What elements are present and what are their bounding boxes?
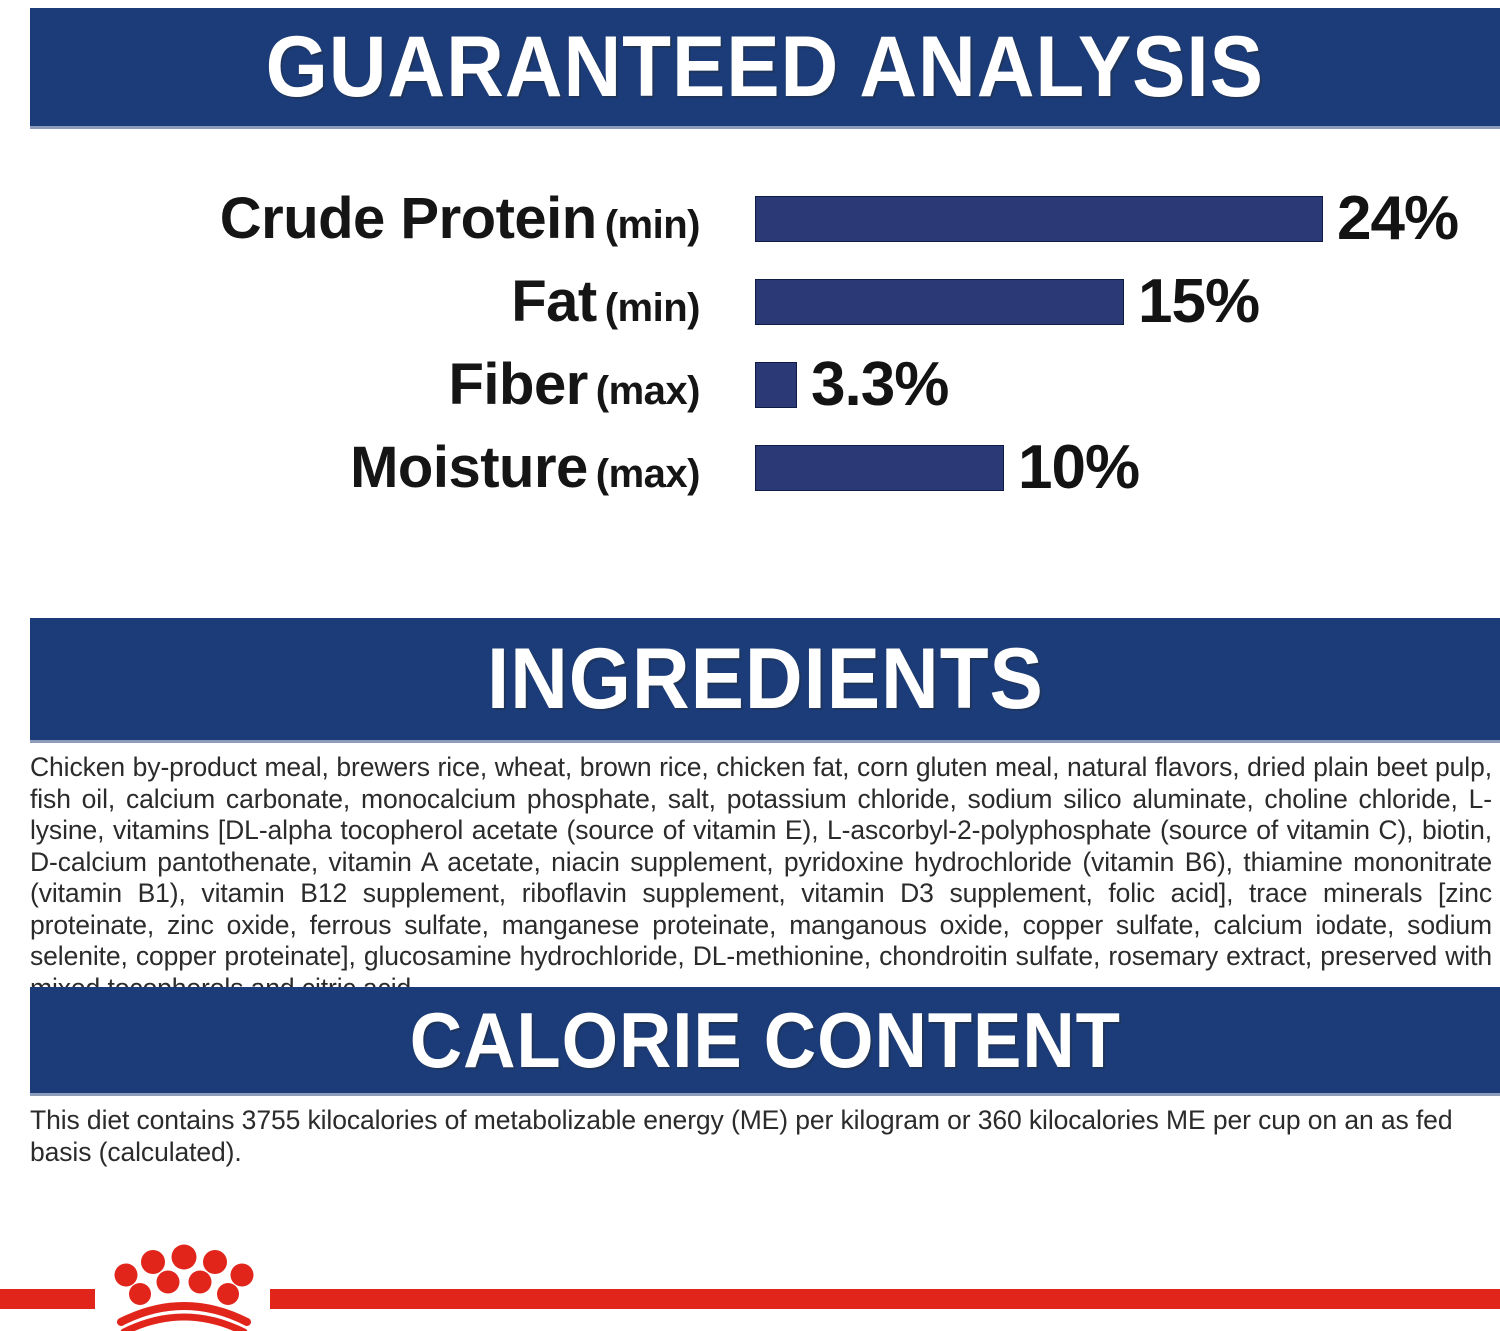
- guaranteed-analysis-title: GUARANTEED ANALYSIS: [266, 18, 1264, 117]
- ingredients-header: INGREDIENTS: [30, 618, 1500, 743]
- bar-crude-protein: [755, 196, 1323, 242]
- bar-fiber: [755, 362, 797, 408]
- nutrient-qualifier: (min): [605, 203, 700, 247]
- nutrient-row-fat: Fat(min) 15%: [0, 268, 1500, 336]
- bar-moisture: [755, 445, 1004, 491]
- bar-zone-fat: 15%: [700, 268, 1500, 336]
- nutrient-name: Fiber: [448, 352, 587, 417]
- calorie-content-title: CALORIE CONTENT: [409, 995, 1120, 1086]
- guaranteed-analysis-header: GUARANTEED ANALYSIS: [30, 8, 1500, 129]
- nutrient-label-crude-protein: Crude Protein(min): [0, 190, 700, 248]
- nutrient-row-moisture: Moisture(max) 10%: [0, 434, 1500, 502]
- nutrient-qualifier: (max): [596, 369, 700, 413]
- nutrient-name: Moisture: [350, 435, 588, 500]
- bar-zone-moisture: 10%: [700, 434, 1500, 502]
- nutrient-row-crude-protein: Crude Protein(min) 24%: [0, 185, 1500, 253]
- nutrient-row-fiber: Fiber(max) 3.3%: [0, 351, 1500, 419]
- bar-zone-fiber: 3.3%: [700, 351, 1500, 419]
- nutrient-label-fiber: Fiber(max): [0, 356, 700, 414]
- bar-value-fat: 15%: [1138, 271, 1259, 333]
- nutrient-name: Crude Protein: [220, 186, 597, 251]
- footer-rule-left: [0, 1289, 95, 1309]
- guaranteed-analysis-chart: Crude Protein(min) 24% Fat(min) 15% Fibe…: [0, 185, 1500, 515]
- nutrient-qualifier: (min): [605, 286, 700, 330]
- bar-zone-crude-protein: 24%: [700, 185, 1500, 253]
- nutrient-label-fat: Fat(min): [0, 273, 700, 331]
- ingredients-title: INGREDIENTS: [487, 630, 1044, 729]
- footer-logo-strip: [0, 1238, 1500, 1331]
- nutrient-qualifier: (max): [596, 452, 700, 496]
- calorie-content-text: This diet contains 3755 kilocalories of …: [30, 1105, 1492, 1168]
- bar-fat: [755, 279, 1124, 325]
- nutrient-name: Fat: [511, 269, 597, 334]
- bar-value-moisture: 10%: [1018, 437, 1139, 499]
- royal-canin-crown-icon: [103, 1244, 265, 1331]
- calorie-content-header: CALORIE CONTENT: [30, 987, 1500, 1096]
- bar-value-crude-protein: 24%: [1337, 188, 1458, 250]
- bar-value-fiber: 3.3%: [811, 354, 948, 416]
- footer-rule-right: [270, 1289, 1500, 1309]
- ingredients-text: Chicken by-product meal, brewers rice, w…: [30, 752, 1492, 1004]
- nutrient-label-moisture: Moisture(max): [0, 439, 700, 497]
